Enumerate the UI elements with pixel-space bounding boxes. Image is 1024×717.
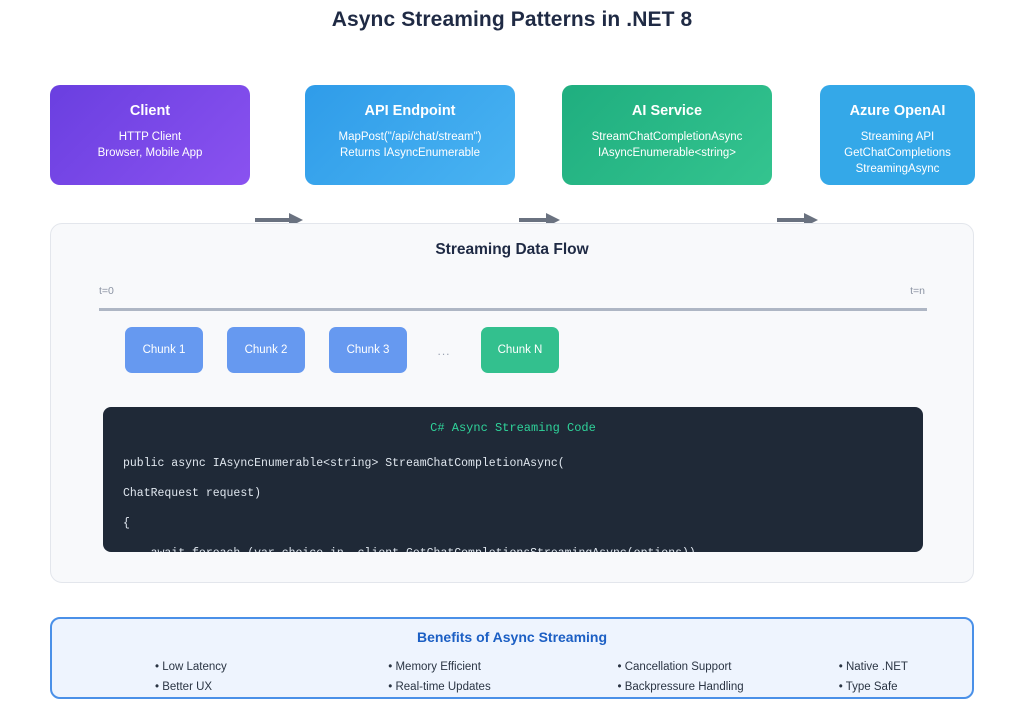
timeline-start-label: t=0 [99,285,114,297]
flow-node-ai-service-title: AI Service [562,102,772,120]
code-line: { [123,509,903,539]
benefits-column: • Memory Efficient • Real-time Updates [288,657,521,697]
flow-node-client[interactable]: Client HTTP Client Browser, Mobile App [50,85,250,185]
flow-node-azure-openai[interactable]: Azure OpenAI Streaming API GetChatComple… [820,85,975,185]
chunk-row: Chunk 1 Chunk 2 Chunk 3 ... Chunk N [51,327,973,377]
streaming-data-flow-title: Streaming Data Flow [51,241,973,259]
flow-node-api-endpoint-line1: MapPost("/api/chat/stream") [305,129,515,145]
benefits-grid: • Low Latency • Better UX • Memory Effic… [52,657,972,697]
benefit-item: • Type Safe [839,677,972,697]
chunk-box-1[interactable]: Chunk 1 [125,327,203,373]
flow-node-azure-openai-title: Azure OpenAI [820,102,975,120]
flow-node-api-endpoint-title: API Endpoint [305,102,515,120]
benefit-item: • Low Latency [155,657,288,677]
benefit-item: • Memory Efficient [388,657,521,677]
benefit-item: • Native .NET [839,657,972,677]
code-line: ChatRequest request) [123,479,903,509]
chunk-ellipsis: ... [429,344,459,358]
timeline-end-label: t=n [910,285,925,297]
flow-node-api-endpoint-line2: Returns IAsyncEnumerable [305,145,515,161]
timeline-axis [99,308,927,311]
benefits-column: • Low Latency • Better UX [52,657,288,697]
benefit-item: • Backpressure Handling [618,677,751,697]
code-line: await foreach (var choice in _client.Get… [123,539,903,552]
chunk-box-2[interactable]: Chunk 2 [227,327,305,373]
streaming-data-flow-panel: Streaming Data Flow t=0 t=n Chunk 1 Chun… [50,223,974,583]
arrow-shaft [519,218,546,222]
flow-node-client-line1: HTTP Client [50,129,250,145]
flow-node-azure-openai-line2: GetChatCompletions [820,145,975,161]
benefits-title: Benefits of Async Streaming [52,629,972,645]
flow-node-azure-openai-line1: Streaming API [820,129,975,145]
benefits-panel: Benefits of Async Streaming • Low Latenc… [50,617,974,699]
code-block: C# Async Streaming Code public async IAs… [103,407,923,552]
chunk-box-n[interactable]: Chunk N [481,327,559,373]
benefits-column: • Cancellation Support • Backpressure Ha… [522,657,751,697]
flow-node-ai-service-line1: StreamChatCompletionAsync [562,129,772,145]
arrow-shaft [777,218,804,222]
flow-node-ai-service[interactable]: AI Service StreamChatCompletionAsync IAs… [562,85,772,185]
benefit-item: • Cancellation Support [618,657,751,677]
flow-node-azure-openai-line3: StreamingAsync [820,161,975,177]
flow-node-client-title: Client [50,102,250,120]
benefit-item: • Real-time Updates [388,677,521,697]
benefits-column: • Native .NET • Type Safe [751,657,972,697]
flow-node-ai-service-line2: IAsyncEnumerable<string> [562,145,772,161]
code-block-caption: C# Async Streaming Code [123,421,903,435]
chunk-box-3[interactable]: Chunk 3 [329,327,407,373]
architecture-flow: Client HTTP Client Browser, Mobile App A… [0,85,1024,185]
flow-node-client-line2: Browser, Mobile App [50,145,250,161]
arrow-shaft [255,218,289,222]
benefit-item: • Better UX [155,677,288,697]
page-title: Async Streaming Patterns in .NET 8 [0,8,1024,32]
code-line: public async IAsyncEnumerable<string> St… [123,449,903,479]
flow-node-api-endpoint[interactable]: API Endpoint MapPost("/api/chat/stream")… [305,85,515,185]
